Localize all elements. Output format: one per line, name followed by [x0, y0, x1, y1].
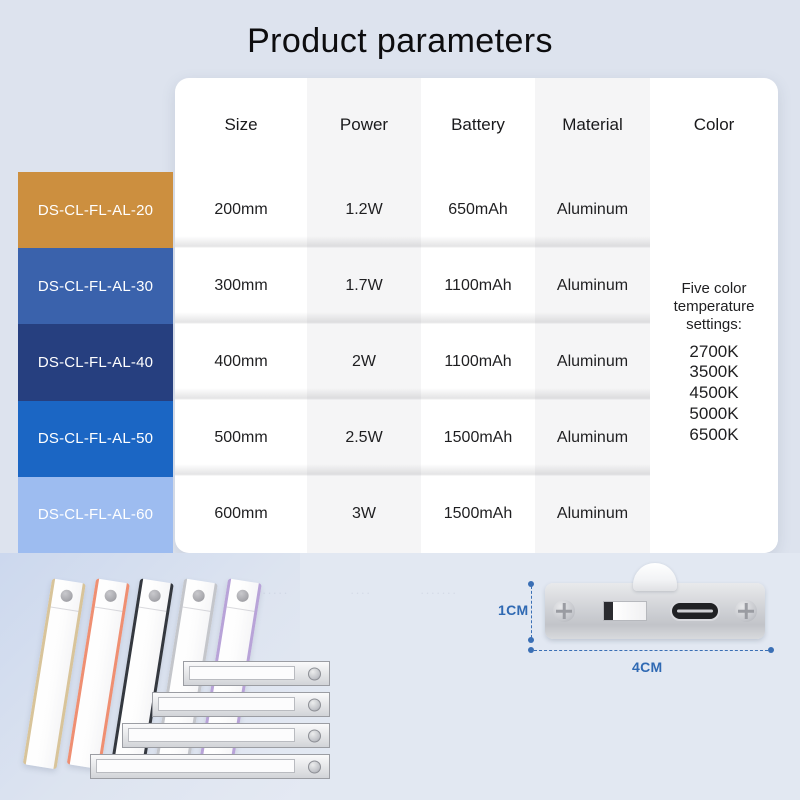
screw-icon-left [553, 600, 575, 622]
column-header-size: Size [175, 78, 307, 172]
model-label-50: DS-CL-FL-AL-50 [18, 401, 173, 477]
bar-inner [189, 666, 295, 680]
motion-sensor-icon [192, 589, 206, 603]
color-temperature-value: 3500K [689, 362, 738, 383]
color-temperature-value: 6500K [689, 425, 738, 446]
seam-line [51, 606, 79, 611]
screw-icon-right [735, 600, 757, 622]
cell-power: 2W [307, 324, 421, 400]
dim-line-vertical [531, 586, 532, 638]
dim-label-width: 4CM [632, 659, 662, 675]
seam-line [95, 606, 123, 611]
spec-table: Size Power Battery Material Color 200mm … [175, 78, 778, 553]
end-screw-icon [308, 698, 321, 711]
color-temperature-value: 2700K [689, 342, 738, 363]
cell-battery: 1500mAh [421, 476, 535, 552]
column-header-battery: Battery [421, 78, 535, 172]
cell-size: 600mm [175, 476, 307, 552]
model-label-40: DS-CL-FL-AL-40 [18, 324, 173, 400]
column-header-material: Material [535, 78, 650, 172]
length-comparison-stack [70, 661, 330, 789]
page-title: Product parameters [0, 22, 800, 61]
bar-inner [158, 697, 295, 711]
cell-material: Aluminum [535, 324, 650, 400]
cell-size: 200mm [175, 172, 307, 248]
model-label-column: DS-CL-FL-AL-20 DS-CL-FL-AL-30 DS-CL-FL-A… [18, 172, 173, 553]
motion-sensor-icon [104, 589, 118, 603]
model-label-60: DS-CL-FL-AL-60 [18, 477, 173, 553]
model-label-20: DS-CL-FL-AL-20 [18, 172, 173, 248]
cell-power: 1.7W [307, 248, 421, 324]
end-screw-icon [308, 667, 321, 680]
cell-size: 500mm [175, 400, 307, 476]
cell-material: Aluminum [535, 476, 650, 552]
cell-material: Aluminum [535, 400, 650, 476]
color-temperature-heading: Five color temperature settings: [674, 280, 755, 335]
motion-sensor-icon [236, 589, 250, 603]
cell-battery: 1100mAh [421, 324, 535, 400]
end-screw-icon [308, 760, 321, 773]
dim-label-height: 1CM [498, 602, 528, 618]
length-bar-1 [183, 661, 330, 686]
product-end-view [545, 583, 765, 639]
motion-sensor-icon [148, 589, 162, 603]
seam-line [183, 606, 211, 611]
usb-c-port-icon [670, 601, 720, 621]
cell-battery: 1100mAh [421, 248, 535, 324]
cell-power: 3W [307, 476, 421, 552]
power-toggle-switch [603, 601, 647, 621]
product-imagery-section: ····· ···· ······· [0, 553, 800, 800]
dimension-callout: 1CM 4CM [520, 575, 780, 653]
bar-inner [128, 728, 295, 742]
end-screw-icon [308, 729, 321, 742]
bar-inner [96, 759, 295, 773]
pir-sensor-dome-icon [633, 563, 677, 591]
color-temperature-value: 4500K [689, 383, 738, 404]
column-header-power: Power [307, 78, 421, 172]
cell-battery: 650mAh [421, 172, 535, 248]
cell-power: 2.5W [307, 400, 421, 476]
length-bar-2 [152, 692, 330, 717]
dim-dot-right [768, 647, 774, 653]
color-temperature-value: 5000K [689, 404, 738, 425]
cell-battery: 1500mAh [421, 400, 535, 476]
cell-size: 300mm [175, 248, 307, 324]
length-bar-3 [122, 723, 330, 748]
seam-line [139, 606, 167, 611]
model-label-30: DS-CL-FL-AL-30 [18, 248, 173, 324]
cell-size: 400mm [175, 324, 307, 400]
dim-line-horizontal [534, 650, 768, 651]
length-bar-4 [90, 754, 330, 779]
motion-sensor-icon [60, 589, 74, 603]
cell-power: 1.2W [307, 172, 421, 248]
cell-color-temperature: Five color temperature settings: 2700K 3… [650, 172, 778, 553]
column-header-color: Color [650, 78, 778, 172]
seam-line [227, 606, 255, 611]
cell-material: Aluminum [535, 248, 650, 324]
table-header-row: Size Power Battery Material Color [175, 78, 778, 172]
cell-material: Aluminum [535, 172, 650, 248]
